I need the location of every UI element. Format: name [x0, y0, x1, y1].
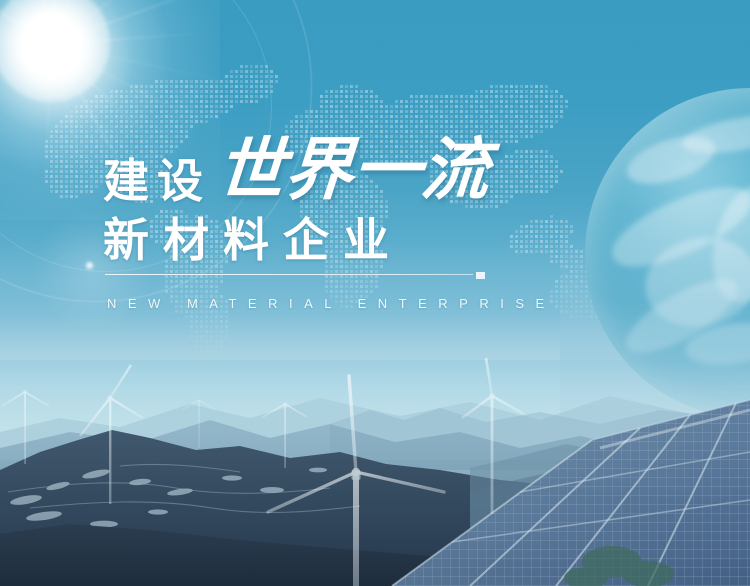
- headline-line-2: 新材料企业: [103, 216, 573, 264]
- divider-line: [105, 274, 473, 275]
- headline-prefix: 建设: [103, 158, 211, 204]
- headline-line-1: 建设 世界一流: [103, 128, 573, 204]
- hero-banner: 建设 世界一流 新材料企业 NEW MATERIAL ENTERPRISE: [0, 0, 750, 586]
- headline-block: 建设 世界一流 新材料企业: [103, 128, 573, 264]
- subtitle: NEW MATERIAL ENTERPRISE: [107, 296, 556, 311]
- headline-emphasis: 世界一流: [215, 136, 492, 204]
- divider-end-marker: [476, 272, 485, 279]
- divider-rule: [105, 272, 485, 278]
- landscape-scene: [0, 0, 750, 586]
